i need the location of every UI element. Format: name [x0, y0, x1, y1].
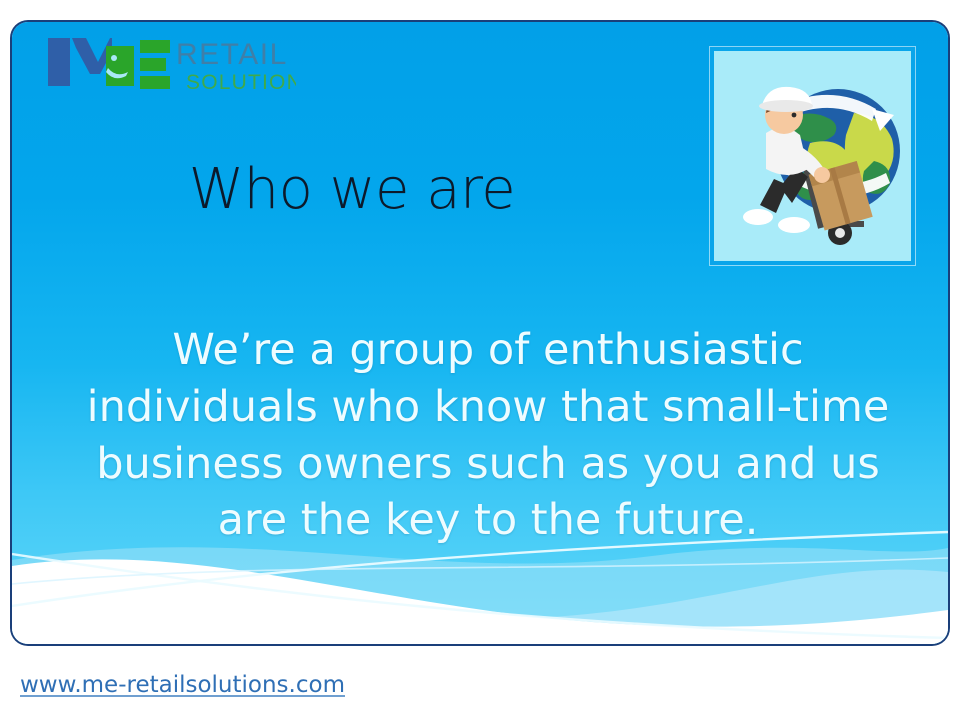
logo-word-solutions: SOLUTIONS — [186, 71, 296, 94]
page-title: Who we are — [12, 159, 692, 221]
company-logo: RETAIL SOLUTIONS — [46, 34, 296, 98]
logo-word-retail: RETAIL — [176, 38, 288, 71]
slide-canvas: RETAIL SOLUTIONS — [12, 22, 948, 644]
slide-container: RETAIL SOLUTIONS — [12, 22, 948, 644]
website-url-link[interactable]: www.me-retailsolutions.com — [20, 672, 345, 698]
delivery-globe-illustration — [714, 51, 911, 261]
logo-graphic: RETAIL SOLUTIONS — [46, 34, 296, 98]
wave-svg — [12, 514, 948, 644]
wave-decoration — [12, 514, 948, 644]
delivery-illustration-card — [710, 47, 915, 265]
